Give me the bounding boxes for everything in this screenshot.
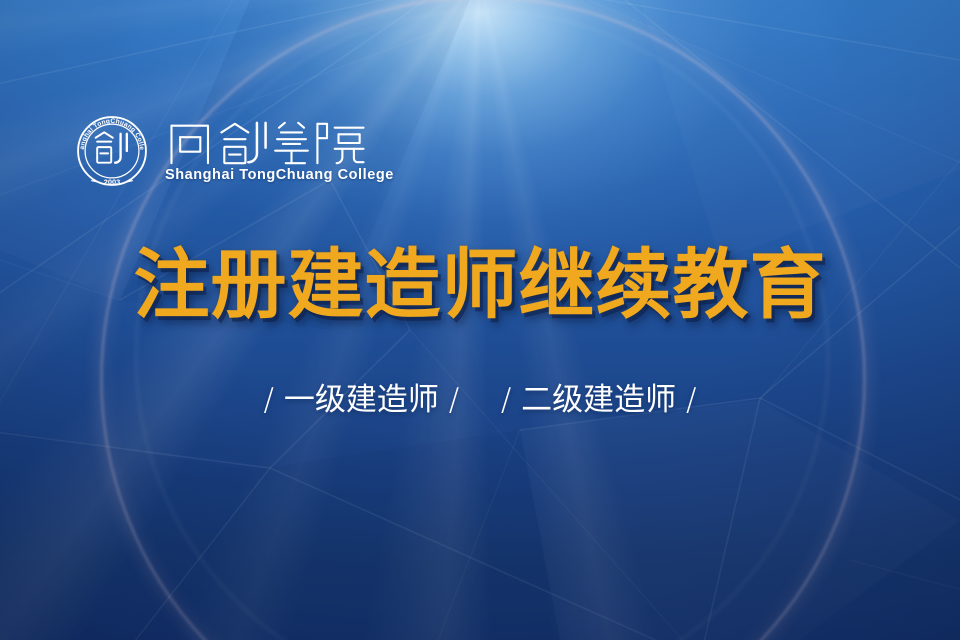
svg-text:2003: 2003: [104, 178, 120, 187]
logo-wordmark-cn: [165, 119, 370, 167]
headline-title: 注册建造师继续教育: [0, 247, 960, 323]
subtitle-left-label: 一级建造师: [284, 382, 439, 418]
subtitle-left-slash-open: /: [264, 382, 274, 418]
subtitle-right-slash-open: /: [501, 382, 511, 418]
college-logo: Shanghai TongChuang College 2003: [73, 112, 394, 190]
subtitle-right-slash-close: /: [686, 382, 696, 418]
promo-banner: Shanghai TongChuang College 2003: [0, 0, 960, 640]
logo-wordmark-en: Shanghai TongChuang College: [165, 168, 394, 183]
banner-content: Shanghai TongChuang College 2003: [0, 0, 960, 640]
subtitle-left-slash-close: /: [449, 382, 459, 418]
college-seal-emblem-icon: Shanghai TongChuang College 2003: [73, 112, 151, 190]
subtitle-line: / 一级建造师 / / 二级建造师 /: [0, 383, 960, 417]
subtitle-right-label: 二级建造师: [521, 382, 676, 418]
logo-wordmark: Shanghai TongChuang College: [165, 119, 394, 183]
